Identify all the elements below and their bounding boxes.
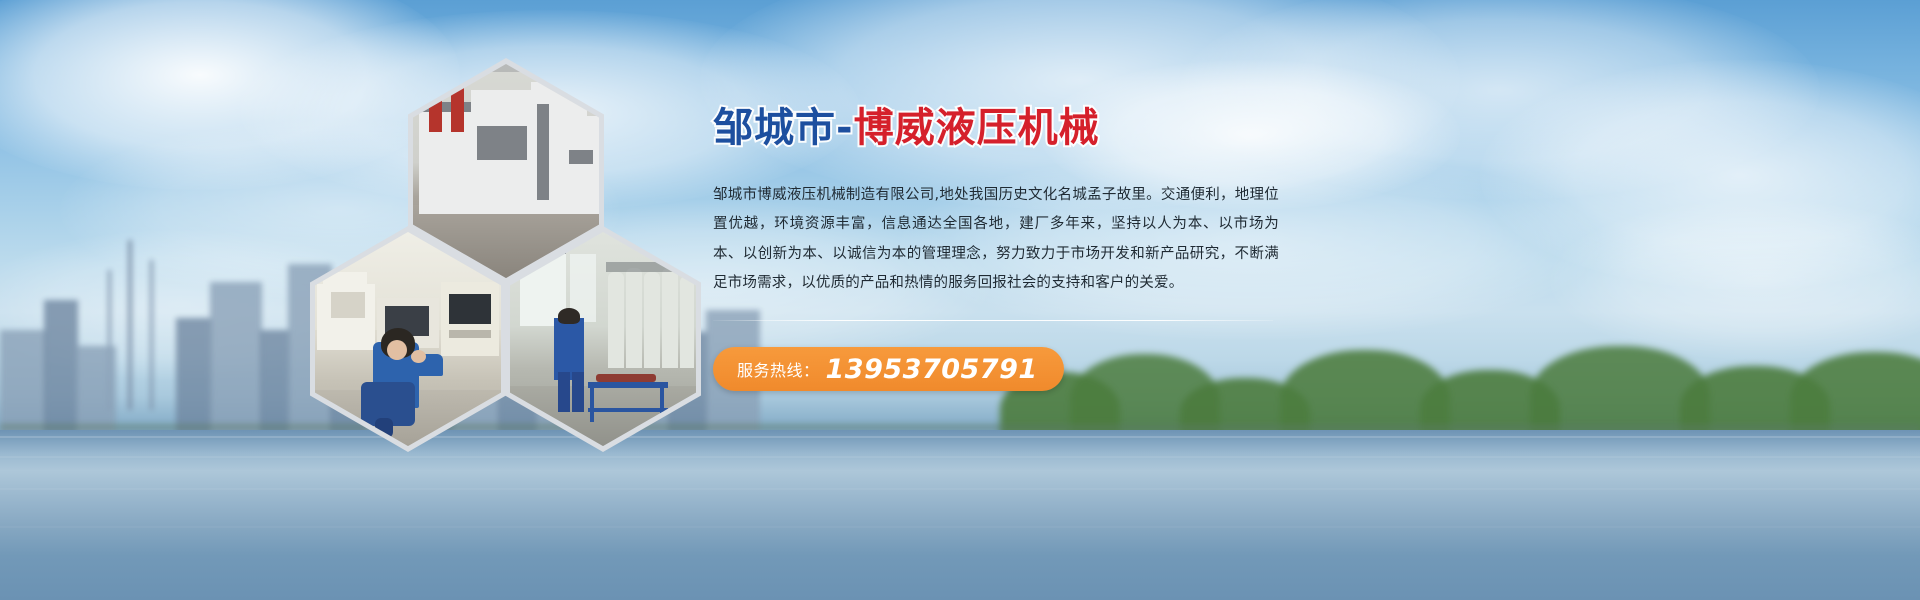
company-banner: 邹城市-博威液压机械 邹城市博威液压机械制造有限公司,地处我国历史文化名城孟子故… — [0, 0, 1920, 600]
company-description: 邹城市博威液压机械制造有限公司,地处我国历史文化名城孟子故里。交通便利，地理位置… — [713, 181, 1279, 298]
cloud-shape — [1480, 60, 1920, 290]
hex-photo-cluster — [305, 58, 705, 448]
section-divider — [713, 320, 1273, 321]
hotline-number[interactable]: 13953705791 — [826, 354, 1038, 385]
company-title: 邹城市-博威液压机械 — [713, 105, 1293, 151]
company-title-brand: 博威液压机械 — [854, 105, 1100, 151]
hotline-label: 服务热线： — [737, 357, 820, 381]
company-title-region: 邹城市- — [713, 105, 854, 151]
hotline-badge[interactable]: 服务热线： 13953705791 — [713, 347, 1064, 391]
water-background — [0, 430, 1920, 600]
banner-text-content: 邹城市-博威液压机械 邹城市博威液压机械制造有限公司,地处我国历史文化名城孟子故… — [713, 105, 1293, 391]
